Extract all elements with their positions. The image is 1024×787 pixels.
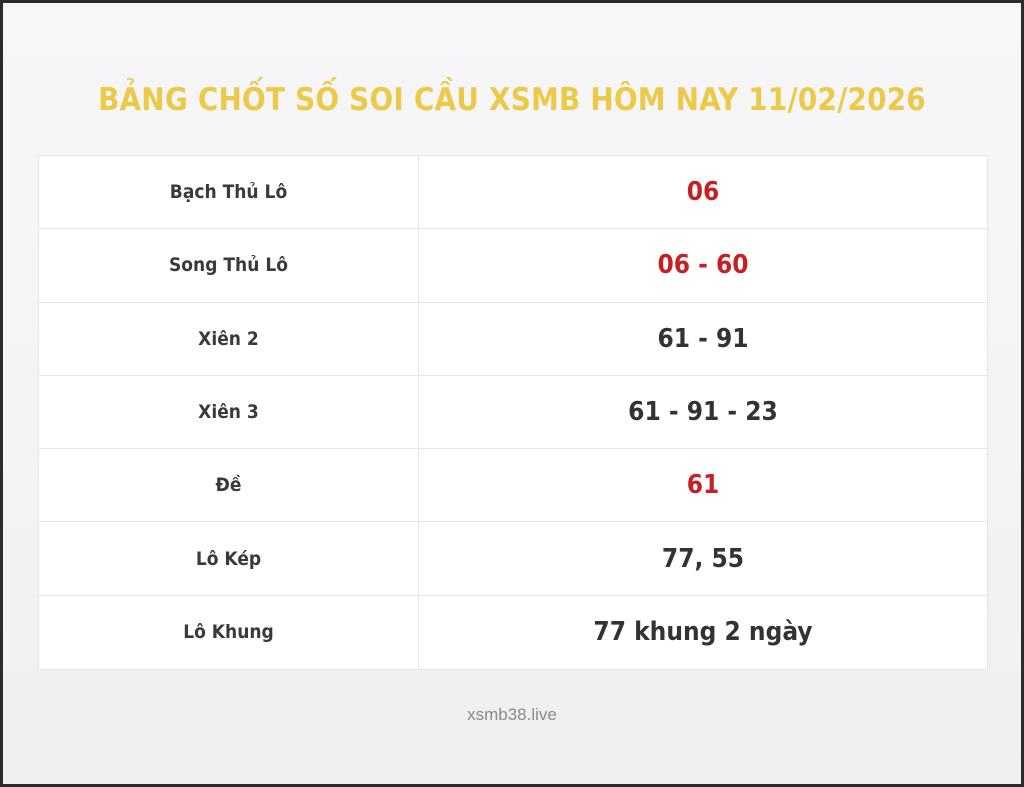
table-row: Lô Kép77, 55 — [39, 522, 987, 595]
row-label: Đề — [39, 449, 419, 521]
row-label: Xiên 3 — [39, 376, 419, 448]
row-value: 77 khung 2 ngày — [419, 596, 987, 669]
table-row: Song Thủ Lô06 - 60 — [39, 229, 987, 302]
row-label: Lô Kép — [39, 522, 419, 594]
page-canvas: BẢNG CHỐT SỐ SOI CẦU XSMB HÔM NAY 11/02/… — [3, 3, 1021, 784]
site-watermark: xsmb38.live — [3, 705, 1021, 725]
table-row: Xiên 361 - 91 - 23 — [39, 376, 987, 449]
row-label: Lô Khung — [39, 596, 419, 669]
table-row: Bạch Thủ Lô06 — [39, 156, 987, 229]
prediction-table: Bạch Thủ Lô06Song Thủ Lô06 - 60Xiên 261 … — [38, 155, 988, 670]
row-value: 61 - 91 — [419, 303, 987, 375]
row-value: 61 — [419, 449, 987, 521]
row-value: 61 - 91 - 23 — [419, 376, 987, 448]
table-row: Đề61 — [39, 449, 987, 522]
row-label: Song Thủ Lô — [39, 229, 419, 301]
row-value: 06 - 60 — [419, 229, 987, 301]
table-row: Xiên 261 - 91 — [39, 303, 987, 376]
row-label: Bạch Thủ Lô — [39, 156, 419, 228]
table-row: Lô Khung77 khung 2 ngày — [39, 596, 987, 669]
row-value: 77, 55 — [419, 522, 987, 594]
row-label: Xiên 2 — [39, 303, 419, 375]
row-value: 06 — [419, 156, 987, 228]
page-title: BẢNG CHỐT SỐ SOI CẦU XSMB HÔM NAY 11/02/… — [3, 82, 1021, 118]
